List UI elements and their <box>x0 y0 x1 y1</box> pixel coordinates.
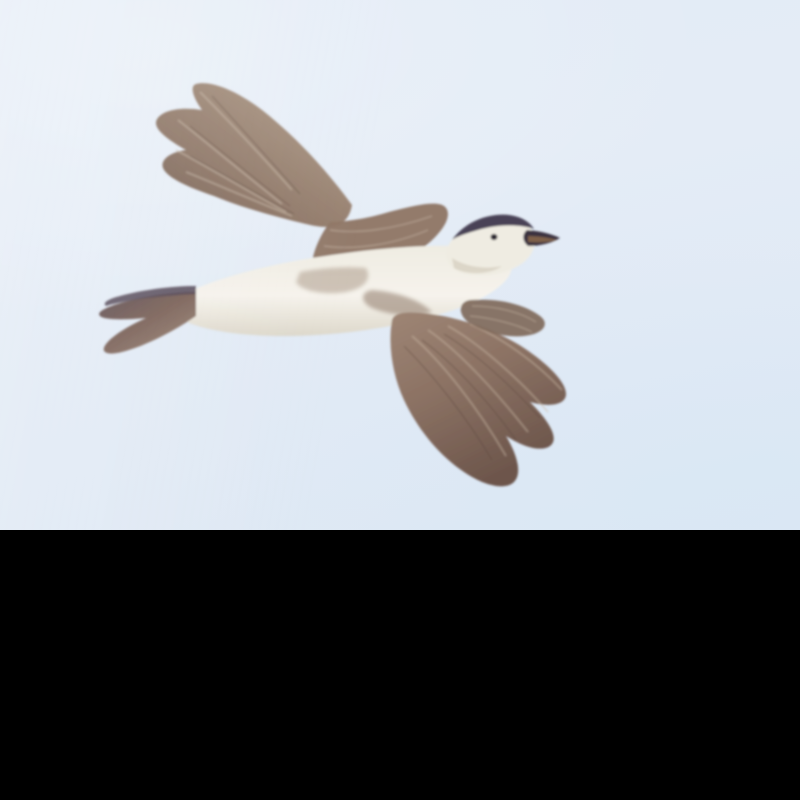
bird-photo-card: Golondrina parda Brown-chested Martin Pr… <box>0 0 800 800</box>
caption-panel: Golondrina parda Brown-chested Martin Pr… <box>0 530 800 800</box>
bird-illustration <box>0 0 800 530</box>
photo-area <box>0 0 800 530</box>
